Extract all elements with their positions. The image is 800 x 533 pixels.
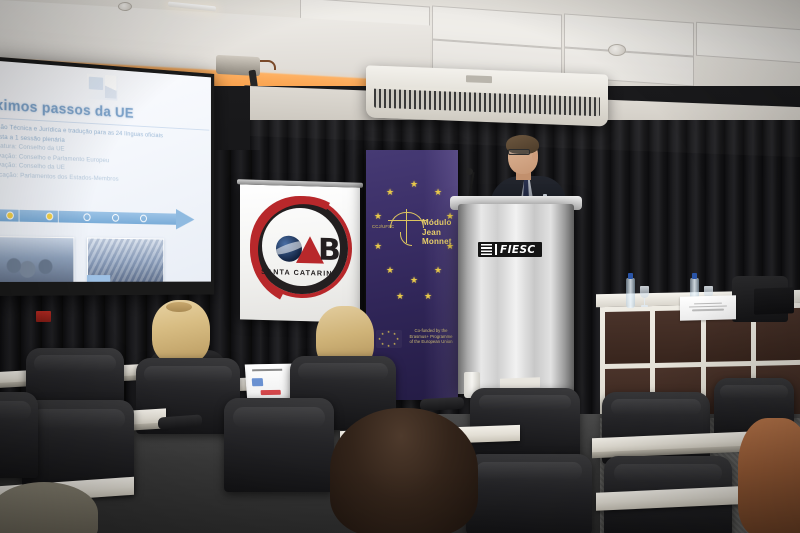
glass-base bbox=[641, 305, 648, 307]
name-card-line bbox=[689, 306, 727, 308]
timeline-node bbox=[112, 214, 119, 222]
water-glass bbox=[640, 286, 649, 308]
auditorium-chair[interactable] bbox=[0, 392, 38, 478]
eu-star-icon: ★ bbox=[424, 292, 432, 301]
slide-footer-tab bbox=[87, 275, 110, 282]
timeline-node bbox=[140, 215, 147, 223]
timeline-separator bbox=[58, 210, 59, 224]
eu-document-icon bbox=[87, 74, 117, 101]
auditorium-scene: óximos passos da UE Revisão Técnica e Ju… bbox=[0, 0, 800, 533]
program-line-2: Jean bbox=[422, 228, 452, 238]
fiesc-wordmark: FIESC bbox=[500, 244, 536, 256]
timeline-node bbox=[46, 212, 53, 220]
eyeglasses-icon bbox=[508, 149, 530, 155]
ceiling-tile bbox=[696, 22, 800, 64]
podium: FIESC bbox=[458, 204, 574, 394]
eu-flag-icon: ★ ★ ★ ★ ★ ★ ★ ★ bbox=[376, 330, 402, 348]
eu-star-icon: ★ bbox=[434, 188, 442, 197]
conference-program-booklet bbox=[245, 364, 296, 401]
eu-star-icon: ★ bbox=[386, 266, 394, 275]
eu-star-icon: ★ bbox=[434, 266, 442, 275]
program-line-1: Módulo bbox=[422, 218, 452, 228]
timeline-node bbox=[6, 211, 14, 219]
auburn-haired-attendee-right bbox=[738, 418, 800, 533]
timeline-arrowhead bbox=[176, 209, 194, 230]
eu-flag-box bbox=[89, 77, 103, 91]
table-panel bbox=[605, 311, 650, 363]
monitor bbox=[754, 287, 794, 314]
attendee-lower-left bbox=[0, 482, 100, 533]
name-card-line bbox=[692, 309, 724, 311]
institution-label: CCJ/UFSC bbox=[372, 224, 394, 229]
process-timeline-arrow bbox=[0, 206, 204, 228]
cofunding-line-3: of the European Union bbox=[406, 339, 456, 345]
table-name-card bbox=[680, 295, 736, 320]
fiesc-divider bbox=[495, 244, 497, 255]
program-line-3: Monnet bbox=[422, 237, 452, 247]
dark-haired-attendee-foreground bbox=[330, 408, 480, 533]
projection-screen: óximos passos da UE Revisão Técnica e Ju… bbox=[0, 56, 214, 296]
auditorium-chair[interactable] bbox=[224, 398, 334, 492]
auditorium-chair[interactable] bbox=[466, 454, 592, 533]
eu-star-icon: ★ bbox=[386, 188, 394, 197]
auditorium-chair[interactable] bbox=[470, 388, 580, 458]
eu-star-icon: ★ bbox=[374, 212, 382, 221]
glass-stem bbox=[644, 298, 645, 305]
logo-curve bbox=[400, 232, 412, 246]
cofunding-text: Co-funded by the Erasmus+ Programme of t… bbox=[406, 328, 456, 345]
attendee-ponytail bbox=[166, 302, 192, 312]
blonde-attendee-ponytail bbox=[152, 300, 214, 366]
timeline-node bbox=[83, 213, 90, 221]
speaker-ear bbox=[532, 152, 538, 161]
attendee-hair bbox=[738, 418, 800, 533]
slide-bullet-list: Revisão Técnica e Jurídica e tradução pa… bbox=[0, 122, 211, 188]
booklet-title-line bbox=[252, 369, 282, 371]
eu-star-icon: ★ bbox=[410, 276, 418, 285]
exit-sign bbox=[36, 311, 51, 322]
ac-brand-label bbox=[466, 75, 492, 83]
ceiling-vent bbox=[608, 44, 626, 56]
eu-star-icon: ★ bbox=[410, 180, 418, 189]
ceiling-vent bbox=[118, 2, 132, 11]
air-conditioner-unit bbox=[366, 65, 608, 126]
attendee-hair bbox=[0, 482, 98, 533]
name-card-line bbox=[694, 303, 722, 305]
booklet-red-mark bbox=[261, 390, 281, 395]
fiesc-logo: FIESC bbox=[478, 242, 542, 257]
eu-star-icon: ★ bbox=[396, 292, 404, 301]
page-fold bbox=[105, 75, 117, 99]
podium-papers bbox=[500, 377, 540, 388]
jean-monnet-logo: CCJ/UFSC Módulo Jean Monnet bbox=[382, 212, 442, 248]
oab-rollup-banner: B SANTA CATARINA bbox=[240, 184, 360, 322]
booklet-blue-mark bbox=[252, 378, 264, 386]
attendee-hair bbox=[330, 408, 478, 533]
oab-letter-b: B bbox=[318, 237, 341, 265]
slide-surface: óximos passos da UE Revisão Técnica e Ju… bbox=[0, 60, 211, 282]
ac-louvers bbox=[374, 86, 600, 117]
ceiling-projector bbox=[216, 56, 278, 90]
glass-bowl bbox=[640, 286, 649, 298]
council-meeting-photo bbox=[0, 236, 74, 282]
water-bottle bbox=[626, 278, 635, 308]
timeline-separator bbox=[19, 209, 20, 223]
fiesc-mark-icon bbox=[481, 244, 492, 255]
program-name: Módulo Jean Monnet bbox=[422, 218, 452, 247]
eu-star-icon: ★ bbox=[374, 242, 382, 251]
